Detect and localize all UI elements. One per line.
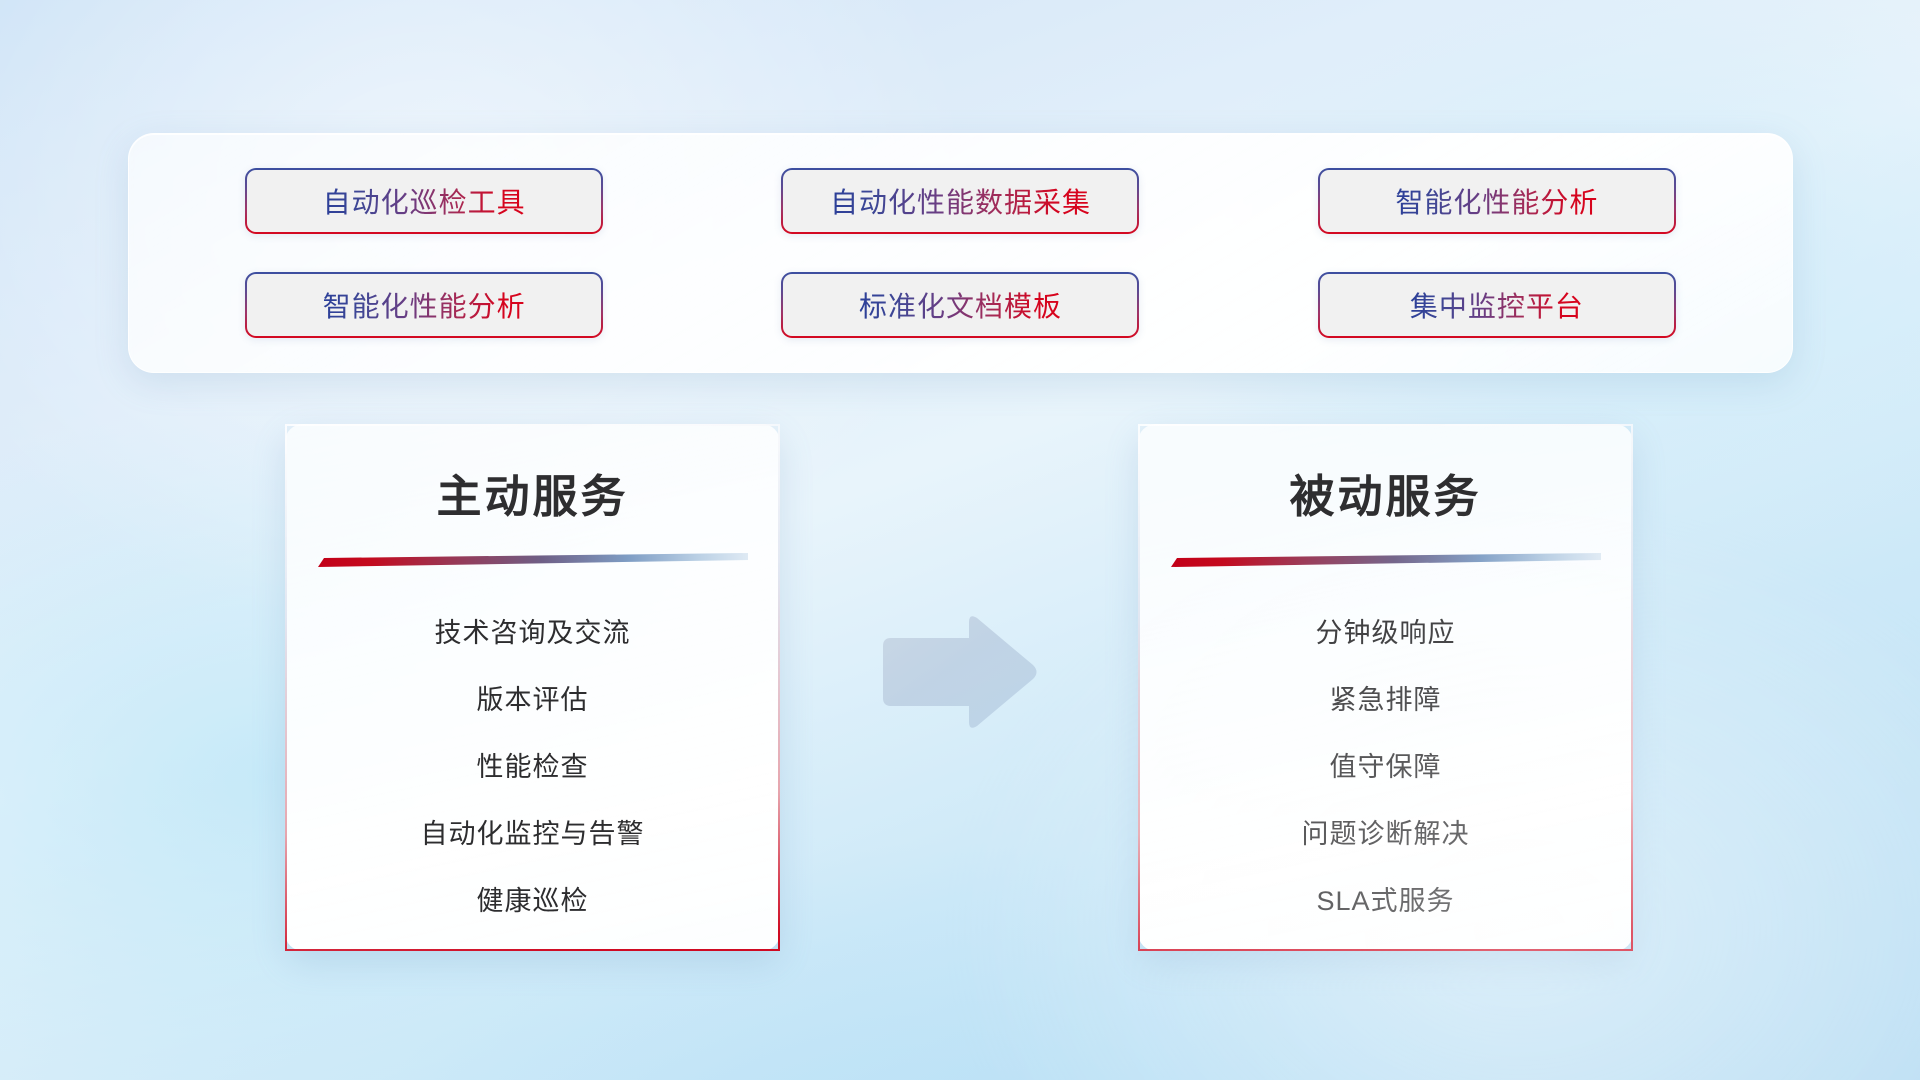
list-item: 紧急排障 — [1140, 664, 1631, 731]
diagram-canvas: 自动化巡检工具 自动化性能数据采集 智能化性能分析 智能化性能分析 标准化文档模… — [0, 0, 1920, 1080]
capability-tag-2-inner: 自动化性能数据采集 — [783, 170, 1137, 232]
capability-tag-6-label: 集中监控平台 — [1410, 285, 1584, 325]
service-card-reactive-list: 分钟级响应 紧急排障 值守保障 问题诊断解决 SLA式服务 — [1140, 597, 1631, 932]
capability-tag-5-inner: 标准化文档模板 — [783, 274, 1137, 336]
capability-tag-5-label: 标准化文档模板 — [859, 285, 1062, 325]
service-card-proactive-list: 技术咨询及交流 版本评估 性能检查 自动化监控与告警 健康巡检 — [287, 597, 778, 932]
capability-tag-3[interactable]: 智能化性能分析 — [1318, 168, 1676, 234]
list-item: 值守保障 — [1140, 731, 1631, 798]
capability-tag-3-label: 智能化性能分析 — [1395, 181, 1598, 221]
gradient-divider-icon — [1171, 553, 1601, 569]
capability-tag-2-label: 自动化性能数据采集 — [830, 181, 1091, 221]
capability-tag-4-inner: 智能化性能分析 — [247, 274, 601, 336]
list-item: SLA式服务 — [1140, 865, 1631, 932]
service-card-reactive-title: 被动服务 — [1140, 460, 1631, 525]
capability-tag-1[interactable]: 自动化巡检工具 — [245, 168, 603, 234]
service-card-reactive: 被动服务 分钟级响应 紧急排障 — [1138, 424, 1633, 951]
capability-tag-1-label: 自动化巡检工具 — [323, 181, 526, 221]
list-item: 性能检查 — [287, 731, 778, 798]
capability-tag-5[interactable]: 标准化文档模板 — [781, 272, 1139, 338]
arrow-right-icon — [877, 613, 1039, 731]
list-item: 自动化监控与告警 — [287, 798, 778, 865]
list-item: 分钟级响应 — [1140, 597, 1631, 664]
list-item: 版本评估 — [287, 664, 778, 731]
service-card-proactive-title: 主动服务 — [287, 460, 778, 525]
service-card-proactive: 主动服务 技术咨询及交流 版本评估 — [285, 424, 780, 951]
capability-tag-4[interactable]: 智能化性能分析 — [245, 272, 603, 338]
capability-tag-6-inner: 集中监控平台 — [1320, 274, 1674, 336]
gradient-divider-icon — [318, 553, 748, 569]
capability-tag-4-label: 智能化性能分析 — [323, 285, 526, 325]
capability-tag-3-inner: 智能化性能分析 — [1320, 170, 1674, 232]
capability-tags-panel: 自动化巡检工具 自动化性能数据采集 智能化性能分析 智能化性能分析 标准化文档模… — [128, 133, 1793, 373]
list-item: 技术咨询及交流 — [287, 597, 778, 664]
capability-tag-6[interactable]: 集中监控平台 — [1318, 272, 1676, 338]
list-item: 健康巡检 — [287, 865, 778, 932]
capability-tag-1-inner: 自动化巡检工具 — [247, 170, 601, 232]
list-item: 问题诊断解决 — [1140, 798, 1631, 865]
capability-tag-2[interactable]: 自动化性能数据采集 — [781, 168, 1139, 234]
